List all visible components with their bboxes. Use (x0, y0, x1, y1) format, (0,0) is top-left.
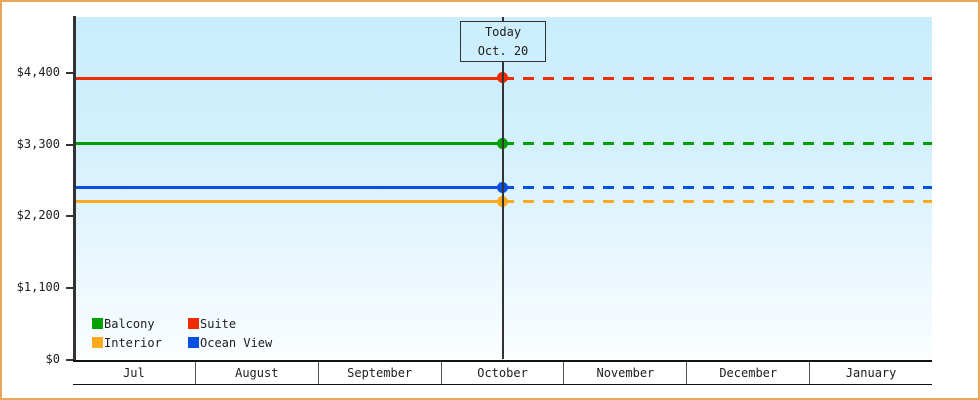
x-axis-month-jul[interactable]: Jul (73, 362, 196, 384)
x-axis-month-august[interactable]: August (196, 362, 319, 384)
today-vertical-line (502, 17, 504, 359)
series-line-interior-forecast[interactable] (503, 200, 932, 203)
series-line-suite-actual[interactable] (76, 77, 503, 80)
series-line-ocean-view-actual[interactable] (76, 186, 503, 189)
y-axis-label-0: $4,400 (17, 66, 60, 78)
x-axis-month-december[interactable]: December (687, 362, 810, 384)
legend-label-balcony: Balcony (103, 318, 155, 330)
x-axis-month-november[interactable]: November (564, 362, 687, 384)
y-axis-label-2: $2,200 (17, 209, 60, 221)
series-line-suite-forecast[interactable] (503, 77, 932, 80)
legend-swatch-icon-balcony (92, 318, 103, 329)
y-axis-label-3: $1,100 (17, 281, 60, 293)
legend-label-interior: Interior (103, 337, 162, 349)
series-line-balcony-forecast[interactable] (503, 142, 932, 145)
series-line-interior-actual[interactable] (76, 200, 503, 203)
y-axis-label-1: $3,300 (17, 138, 60, 150)
series-line-balcony-actual[interactable] (76, 142, 503, 145)
legend-item-ocean-view[interactable]: Ocean View (188, 337, 272, 349)
x-axis-month-october[interactable]: October (442, 362, 565, 384)
legend-item-balcony[interactable]: Balcony (92, 318, 188, 330)
y-tick-2 (66, 215, 74, 217)
y-tick-3 (66, 287, 74, 289)
y-axis-label-4: $0 (46, 353, 60, 365)
legend-swatch-icon-interior (92, 337, 103, 348)
legend-swatch-icon-suite (188, 318, 199, 329)
today-label-box[interactable]: Today Oct. 20 (460, 21, 546, 62)
y-tick-0 (66, 72, 74, 74)
today-label-line2: Oct. 20 (461, 42, 545, 61)
chart-legend: Balcony Suite Interior Ocean View (92, 314, 272, 352)
legend-label-suite: Suite (199, 318, 236, 330)
today-label-line1: Today (461, 23, 545, 42)
y-tick-1 (66, 144, 74, 146)
legend-label-ocean-view: Ocean View (199, 337, 272, 349)
x-axis-month-september[interactable]: September (319, 362, 442, 384)
x-axis-month-table: Jul August September October November De… (73, 360, 932, 385)
chart-frame: $4,400 $3,300 $2,200 $1,100 $0 Today Oct… (0, 0, 980, 400)
legend-item-interior[interactable]: Interior (92, 337, 188, 349)
x-axis-month-january[interactable]: January (810, 362, 932, 384)
legend-item-suite[interactable]: Suite (188, 318, 272, 330)
legend-swatch-icon-ocean-view (188, 337, 199, 348)
series-line-ocean-view-forecast[interactable] (503, 186, 932, 189)
